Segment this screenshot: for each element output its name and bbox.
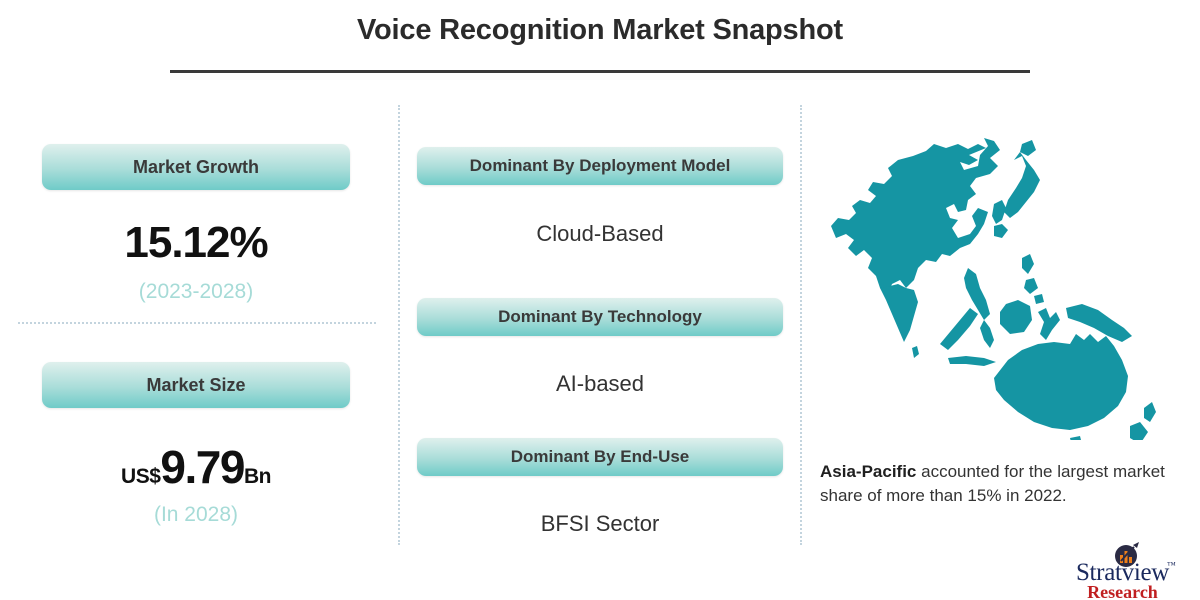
market-size-period: (In 2028) <box>42 503 350 527</box>
dominant-technology-pill: Dominant By Technology <box>417 298 783 336</box>
left-column-section-divider <box>18 322 376 324</box>
market-growth-pill: Market Growth <box>42 144 350 190</box>
logo-subtitle: Research <box>1055 582 1190 600</box>
market-size-pill: Market Size <box>42 362 350 408</box>
dominant-deployment-model-answer: Cloud-Based <box>417 221 783 247</box>
dominant-technology-label: Dominant By Technology <box>498 307 702 327</box>
header-divider-rule <box>170 70 1030 73</box>
dominant-end-use-pill: Dominant By End-Use <box>417 438 783 476</box>
market-size-currency-prefix: US$ <box>121 465 160 489</box>
market-size-pill-label: Market Size <box>146 375 245 396</box>
dominant-end-use-label: Dominant By End-Use <box>511 447 690 467</box>
dominant-deployment-model-pill: Dominant By Deployment Model <box>417 147 783 185</box>
dominant-deployment-model-label: Dominant By Deployment Model <box>470 156 731 176</box>
asia-pacific-map-icon <box>818 108 1180 440</box>
market-growth-pill-label: Market Growth <box>133 157 259 178</box>
market-size-unit-suffix: Bn <box>244 465 271 489</box>
trademark-icon: ™ <box>1167 560 1176 570</box>
column-divider-right <box>800 105 802 545</box>
market-growth-period: (2023-2028) <box>42 280 350 304</box>
page-title: Voice Recognition Market Snapshot <box>0 14 1200 47</box>
dominant-end-use-answer: BFSI Sector <box>417 511 783 537</box>
dominant-technology-answer: AI-based <box>417 371 783 397</box>
market-size-value-group: US$ 9.79 Bn <box>42 440 350 494</box>
infographic-root: Voice Recognition Market Snapshot Market… <box>0 0 1200 600</box>
market-growth-value: 15.12% <box>42 218 350 268</box>
market-size-value: 9.79 <box>160 440 244 494</box>
stratview-research-logo: Stratview ™ Research <box>1055 540 1190 598</box>
column-divider-left <box>398 105 400 545</box>
map-caption: Asia-Pacific accounted for the largest m… <box>820 460 1170 508</box>
map-caption-region: Asia-Pacific <box>820 462 916 481</box>
